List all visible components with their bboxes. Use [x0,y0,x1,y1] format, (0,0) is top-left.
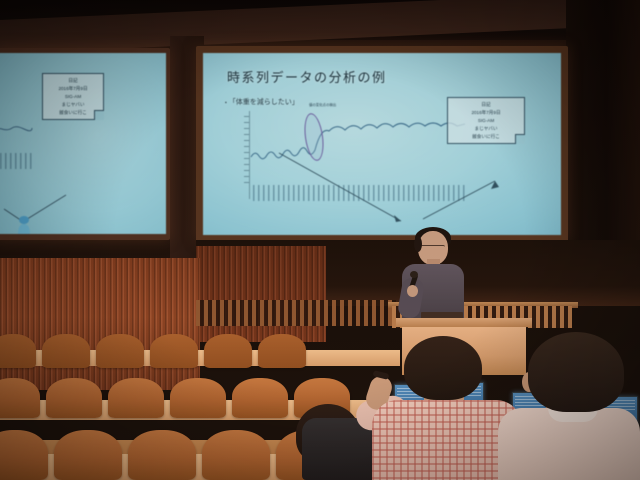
note-line: SIG-AM [450,117,522,125]
secondary-person-icon [16,215,32,234]
podium-surface [396,318,532,327]
microphone-head-icon [410,271,418,278]
slide-bullet: ▪ 「体重を減らしたい」 [225,97,299,107]
seat [0,430,48,480]
note-line: SIG-AM [45,93,101,101]
seat [0,378,40,418]
seat [54,430,122,480]
seat [46,378,102,418]
secondary-slide: 例 日記 2016年7月9日 SIG-AM まじヤバい 飯食いに行こ [0,53,166,234]
seat [150,334,198,368]
secondary-chart [0,115,32,169]
audience-hair [404,336,482,400]
note-line: 日記 [450,101,522,109]
glasses-icon [420,245,445,250]
main-slide: 時系列データの分析の例 ▪ 「体重を減らしたい」 値の変化点の検出 日記 20 [203,53,561,235]
audience-hair [528,332,624,412]
seat [108,378,164,418]
note-line: 2016年7月9日 [45,85,101,93]
chart-annotation: 値の変化点の検出 [309,102,336,107]
note-line: 飯食いに行こ [45,109,101,117]
seat [232,378,288,418]
note-line: まじヤバい [45,101,101,109]
seat [258,334,306,368]
right-dark-wall [566,0,640,262]
note-line: 日記 [45,77,101,85]
note-line: 2016年7月9日 [450,109,522,117]
slide-arrows [263,149,561,235]
seat [170,378,226,418]
lecture-hall-photo: 例 日記 2016年7月9日 SIG-AM まじヤバい 飯食いに行こ [0,0,640,480]
presenter-hand [407,285,418,297]
main-projection-screen: 時系列データの分析の例 ▪ 「体重を減らしたい」 値の変化点の検出 日記 20 [196,46,568,242]
note-line: 飯食いに行こ [450,133,522,141]
secondary-chart-line [0,115,32,155]
note-line: まじヤバい [450,125,522,133]
slide-bullet-text: 「体重を減らしたい」 [229,99,299,106]
stage-railing-left [196,300,396,326]
diary-note: 日記 2016年7月9日 SIG-AM まじヤバい 飯食いに行こ [447,97,525,144]
secondary-projection-screen: 例 日記 2016年7月9日 SIG-AM まじヤバい 飯食いに行こ [0,48,170,240]
seat [96,334,144,368]
seat [128,430,196,480]
slide-title: 時系列データの分析の例 [227,67,387,86]
seat [0,334,36,368]
seat [202,430,270,480]
seat [42,334,90,368]
seat [204,334,252,368]
secondary-diary-note: 日記 2016年7月9日 SIG-AM まじヤバい 飯食いに行こ [42,73,104,120]
